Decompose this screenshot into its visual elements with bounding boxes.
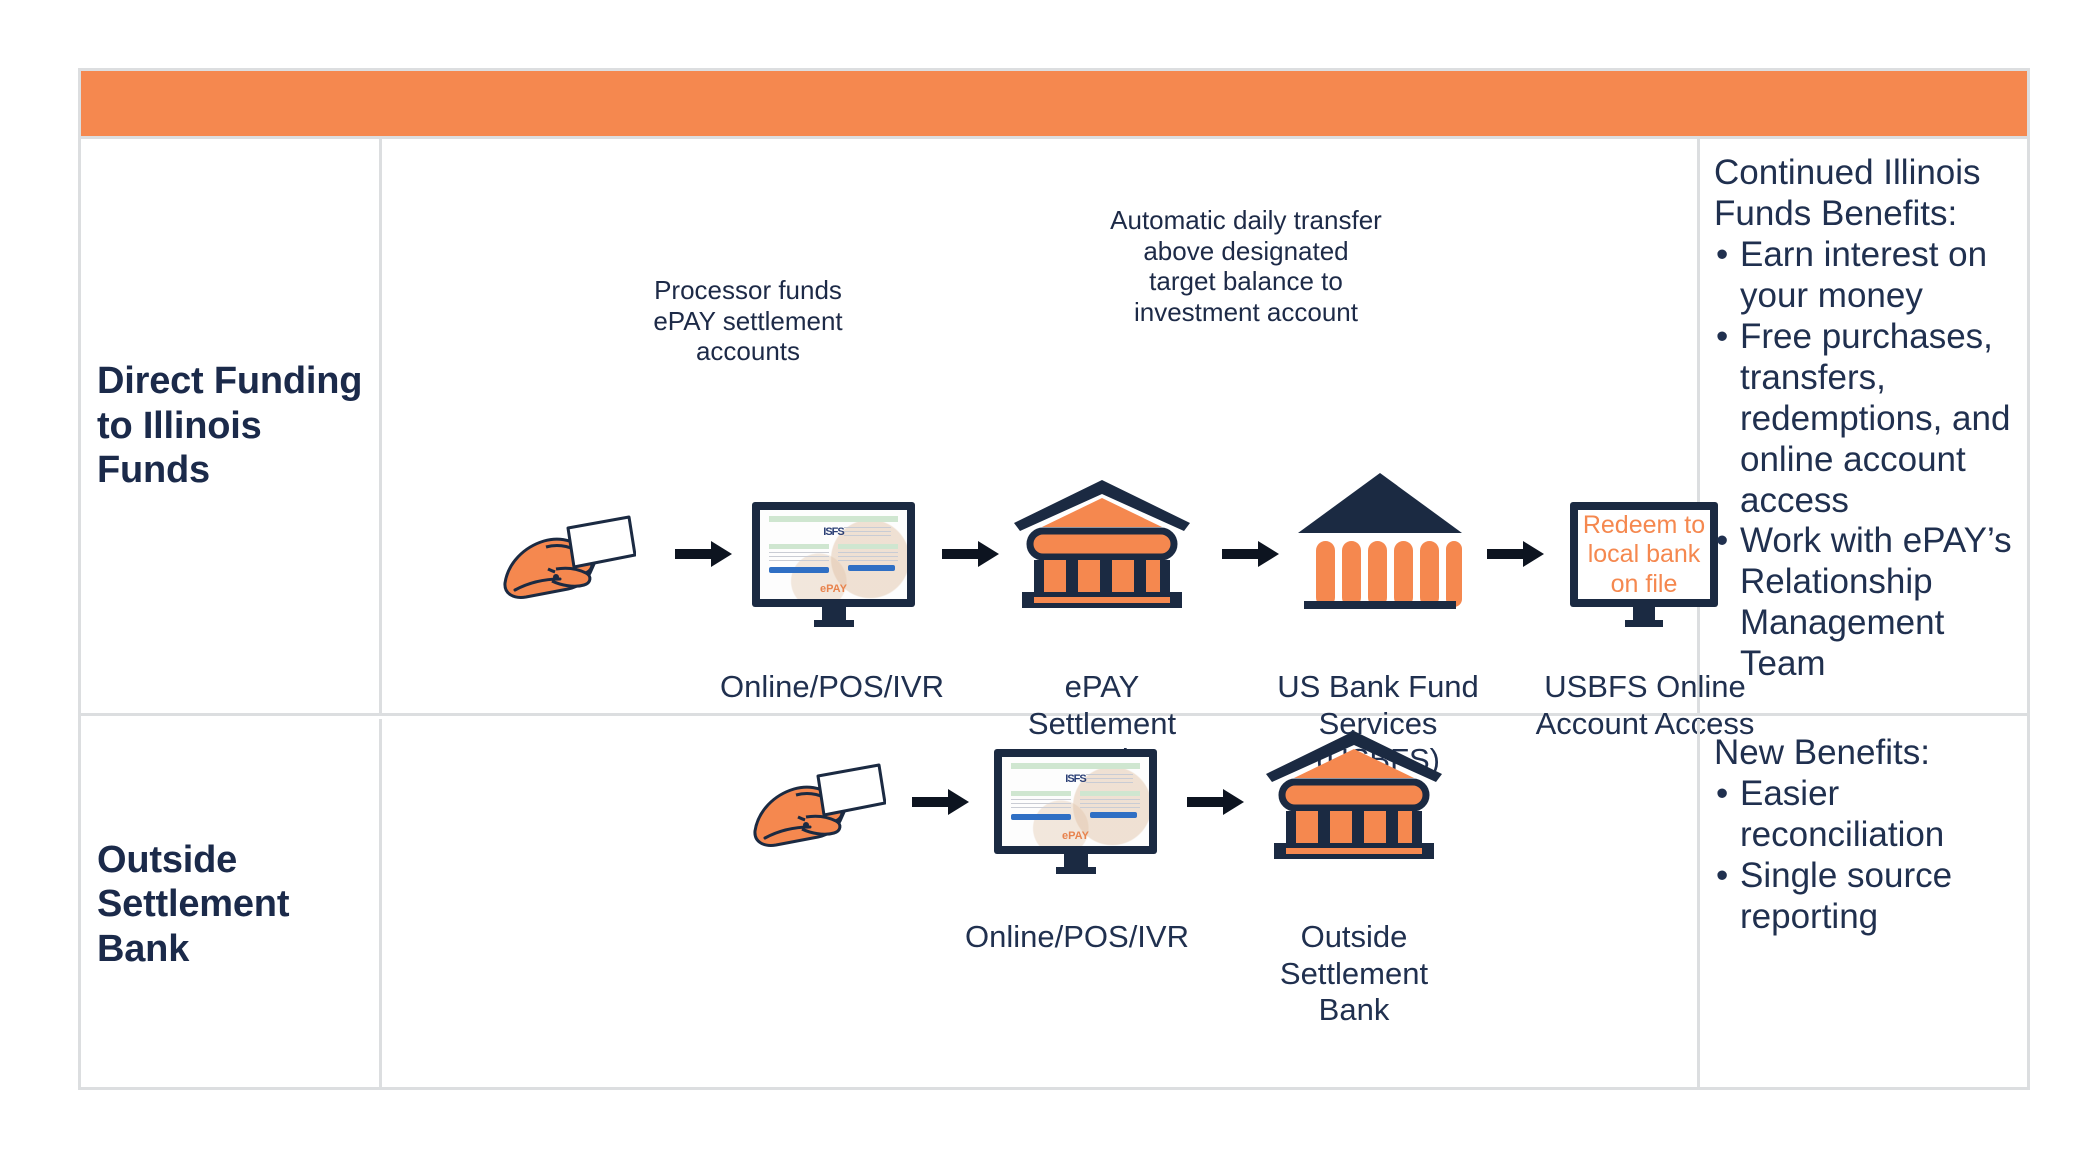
row-diagram-cell-outside-settlement: ISFS ePAY [382,719,1700,1090]
website-thumbnail: ISFS ePAY [760,510,907,599]
epay-logo: ePAY [1062,830,1089,842]
annotation-line: ePAY settlement [608,306,888,337]
annotation-line: Automatic daily transfer [1087,205,1405,236]
row-label-cell-direct-funding: Direct Funding to Illinois Funds [81,139,382,713]
flow-arrow-icon [1187,787,1245,817]
bank-columns-icon [1012,476,1192,611]
row-benefits-cell-continued: Continued Illinois Funds Benefits: Earn … [1700,139,2027,713]
redeem-message: Redeem to local bank on file [1578,510,1710,599]
flow-arrow-icon [912,787,970,817]
epay-logo: ePAY [820,583,847,595]
row-label-text: Direct Funding to Illinois Funds [81,359,379,492]
benefit-item: Free purchases, transfers, redemptions, … [1714,317,2017,522]
step-caption-online-pos-ivr: Online/POS/IVR [682,669,982,706]
annotation-line: accounts [608,336,888,367]
benefits-title: New Benefits: [1714,733,2017,774]
benefits-list: Easier reconciliation Single source repo… [1714,774,2017,938]
benefits-title: Continued Illinois Funds Benefits: [1714,153,2017,235]
row-diagram-cell-direct-funding: Processor funds ePAY settlement accounts… [382,139,1700,713]
flow-arrow-icon [1487,539,1545,569]
benefit-item: Work with ePAY’s Relationship Management… [1714,521,2017,685]
annotation-processor-funds: Processor funds ePAY settlement accounts [608,275,888,367]
bank-roof-columns-icon [1294,469,1466,609]
table-row: Direct Funding to Illinois Funds Process… [81,139,2027,716]
bank-columns-icon [1264,727,1444,862]
hand-card-icon [752,759,886,847]
table-header-bar [81,71,2027,139]
benefits-list: Earn interest on your money Free purchas… [1714,235,2017,685]
comparison-table: Direct Funding to Illinois Funds Process… [78,68,2030,1090]
monitor-website-icon: ISFS ePAY [752,502,915,627]
isfs-logo: ISFS [823,526,843,538]
annotation-daily-transfer: Automatic daily transfer above designate… [1087,205,1405,328]
row-benefits-cell-new: New Benefits: Easier reconciliation Sing… [1700,719,2027,1090]
annotation-line: Processor funds [608,275,888,306]
redeem-line: Redeem to [1578,510,1710,540]
monitor-website-icon: ISFS ePAY [994,749,1157,874]
website-thumbnail: ISFS ePAY [1002,757,1149,846]
benefit-item: Single source reporting [1714,856,2017,938]
diagram-canvas: Direct Funding to Illinois Funds Process… [0,0,2100,1170]
flow-arrow-icon [942,539,1000,569]
row-label-text: Outside Settlement Bank [81,838,379,971]
step-caption-online-pos-ivr: Online/POS/IVR [927,919,1227,956]
redeem-line: local bank [1578,540,1710,570]
isfs-logo: ISFS [1065,773,1085,785]
monitor-redeem-icon: Redeem to local bank on file [1570,502,1718,627]
table-row: Outside Settlement Bank [81,719,2027,1090]
step-caption-outside-settlement-bank: Outside Settlement Bank [1254,919,1454,1029]
benefit-item: Earn interest on your money [1714,235,2017,317]
row-label-cell-outside-settlement: Outside Settlement Bank [81,719,382,1090]
flow-arrow-icon [675,539,733,569]
redeem-line: on file [1578,569,1710,599]
annotation-line: target balance to [1087,266,1405,297]
annotation-line: investment account [1087,297,1405,328]
flow-arrow-icon [1222,539,1280,569]
benefit-item: Easier reconciliation [1714,774,2017,856]
annotation-line: above designated [1087,236,1405,267]
caption-text: Outside Settlement Bank [1254,919,1454,1029]
hand-card-icon [502,511,636,599]
